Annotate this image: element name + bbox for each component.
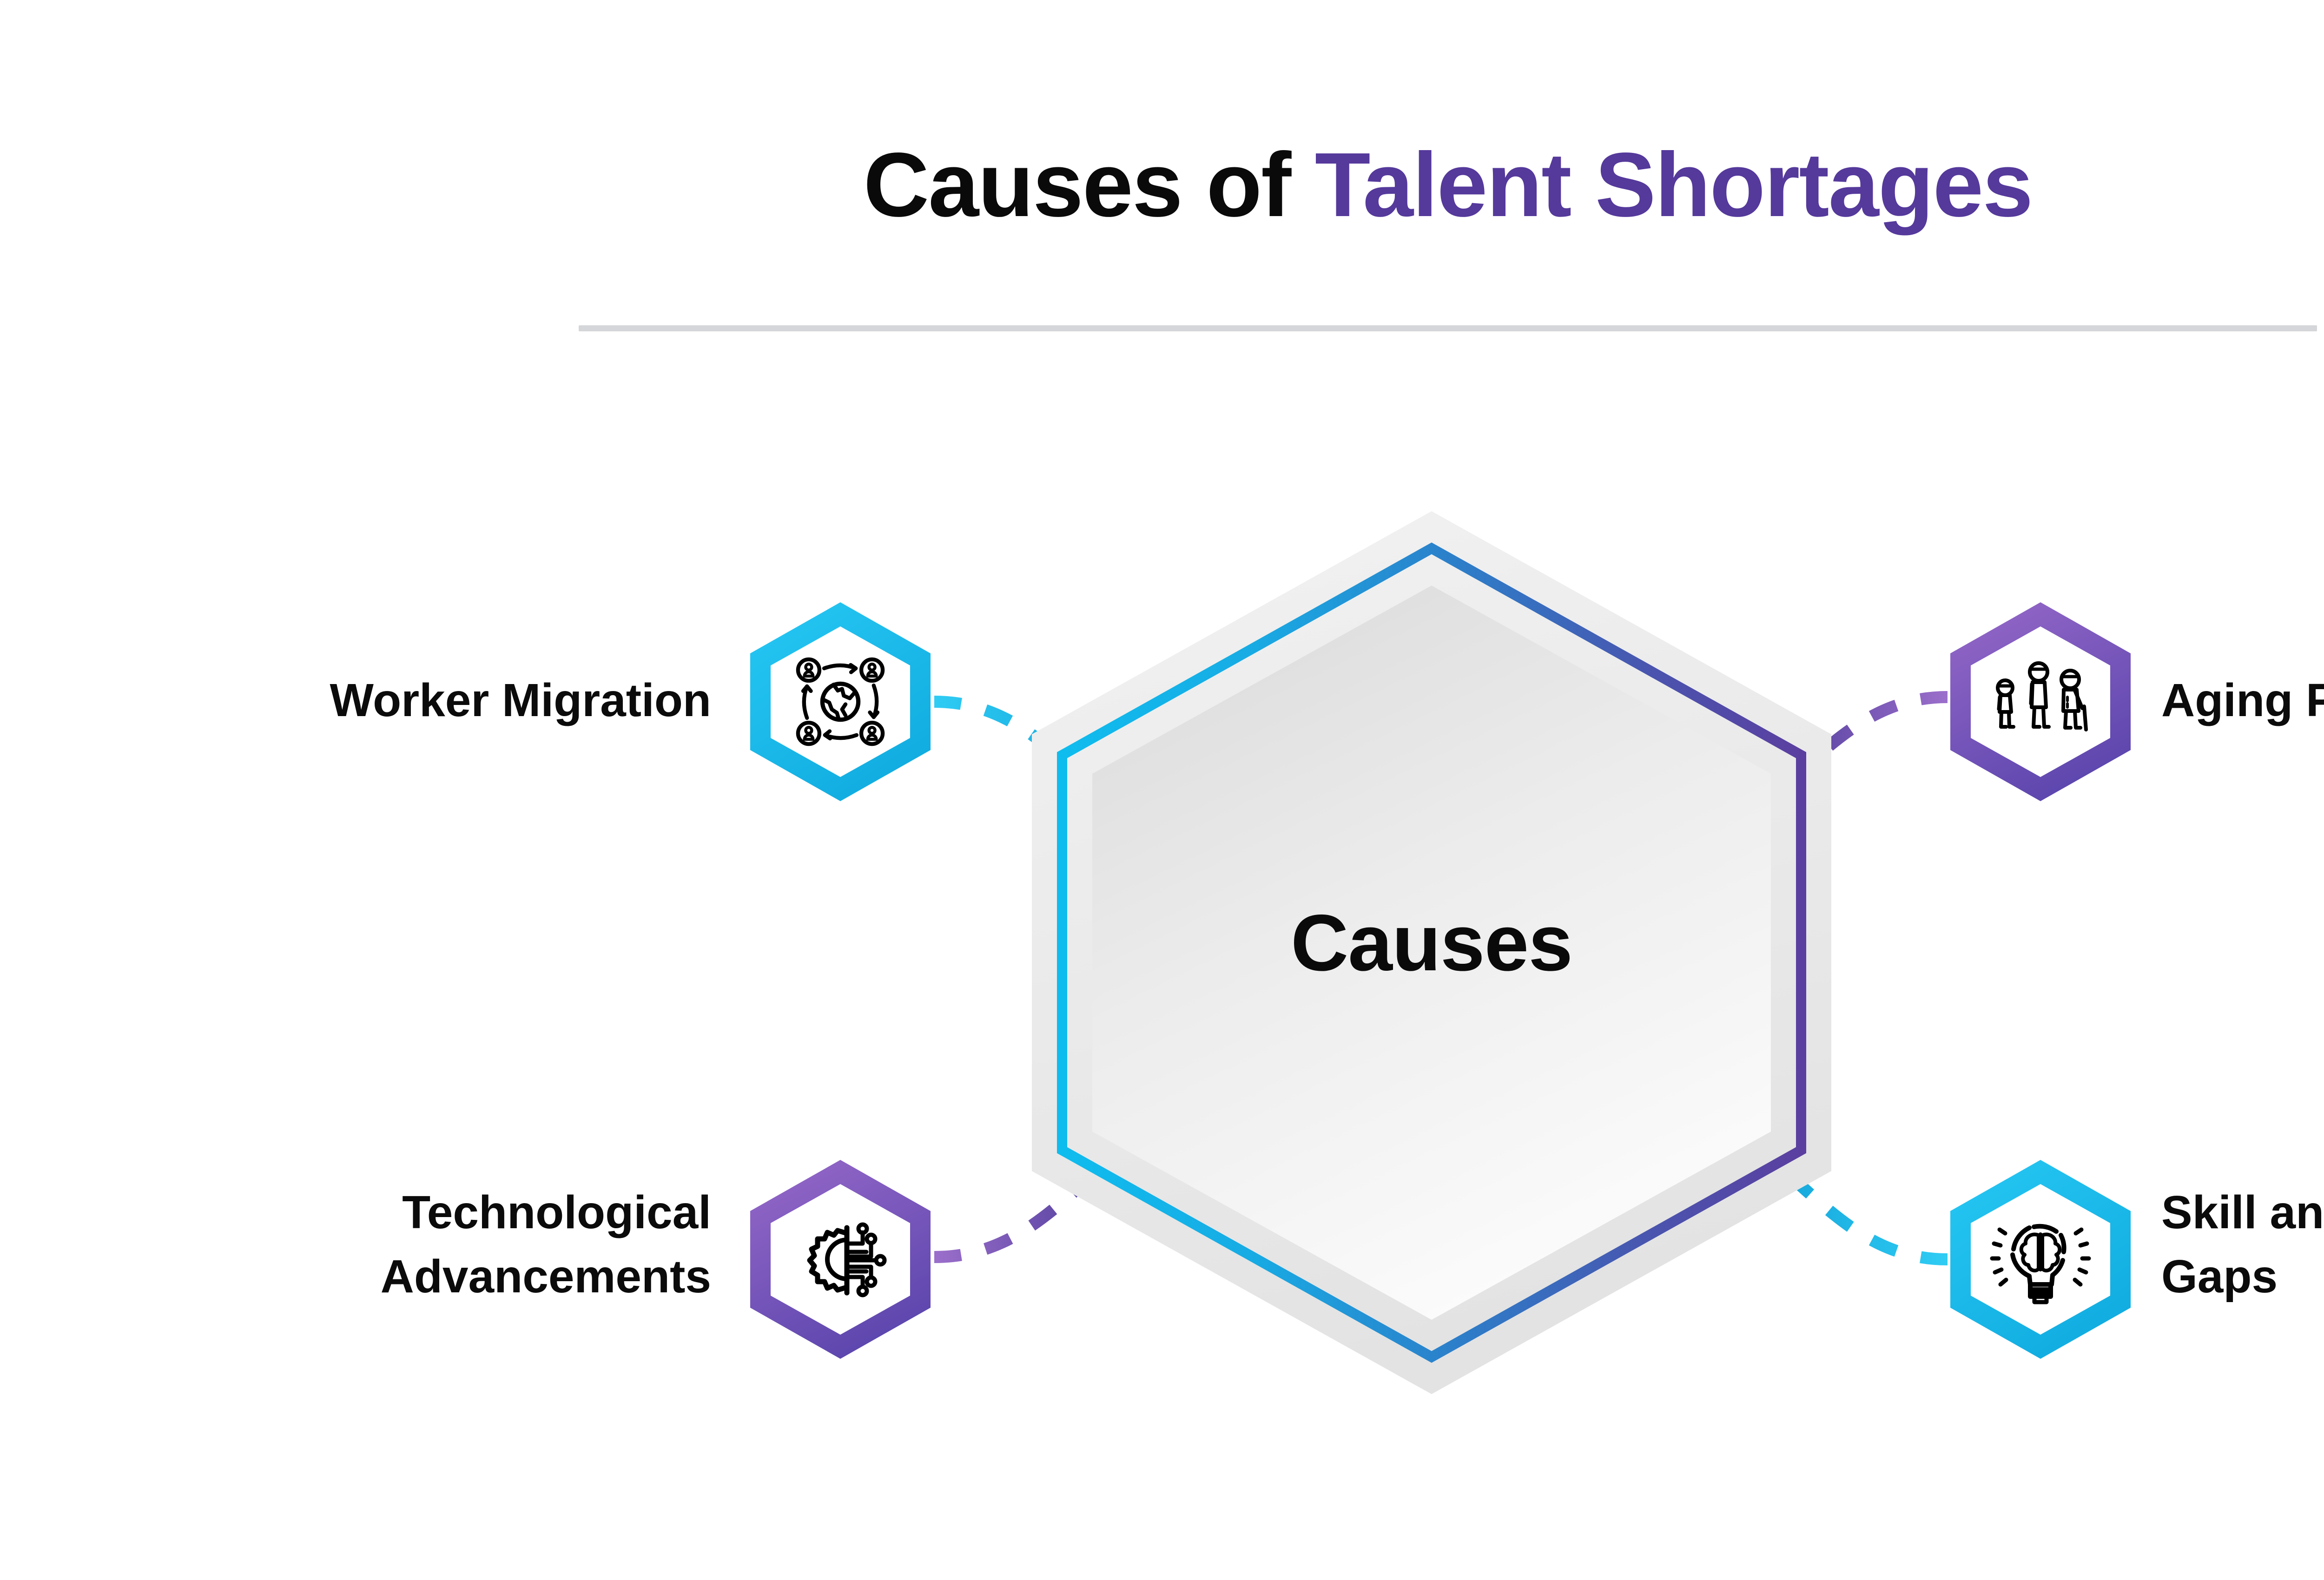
label-aging-populations: Aging Populations xyxy=(2161,668,2324,732)
label-skill-training-gaps-line2: Gaps xyxy=(2161,1244,2324,1309)
center-hexagon-label: Causes xyxy=(1023,897,1841,989)
node-technological-advancements[interactable] xyxy=(747,1157,933,1362)
infographic-canvas: Causes of Talent Shortages xyxy=(0,0,2324,1580)
label-technological-advancements: Technological Advancements xyxy=(139,1180,711,1309)
label-worker-migration: Worker Migration xyxy=(139,668,711,732)
node-aging-populations[interactable] xyxy=(1948,599,2133,804)
label-technological-advancements-line1: Technological xyxy=(139,1180,711,1244)
label-skill-training-gaps-line1: Skill and Training xyxy=(2161,1180,2324,1244)
label-skill-training-gaps: Skill and Training Gaps xyxy=(2161,1180,2324,1309)
label-aging-populations-line1: Aging Populations xyxy=(2161,674,2324,726)
label-technological-advancements-line2: Advancements xyxy=(139,1244,711,1309)
node-worker-migration[interactable] xyxy=(747,599,933,804)
node-skill-training-gaps[interactable] xyxy=(1948,1157,2133,1362)
label-worker-migration-line1: Worker Migration xyxy=(330,674,711,726)
